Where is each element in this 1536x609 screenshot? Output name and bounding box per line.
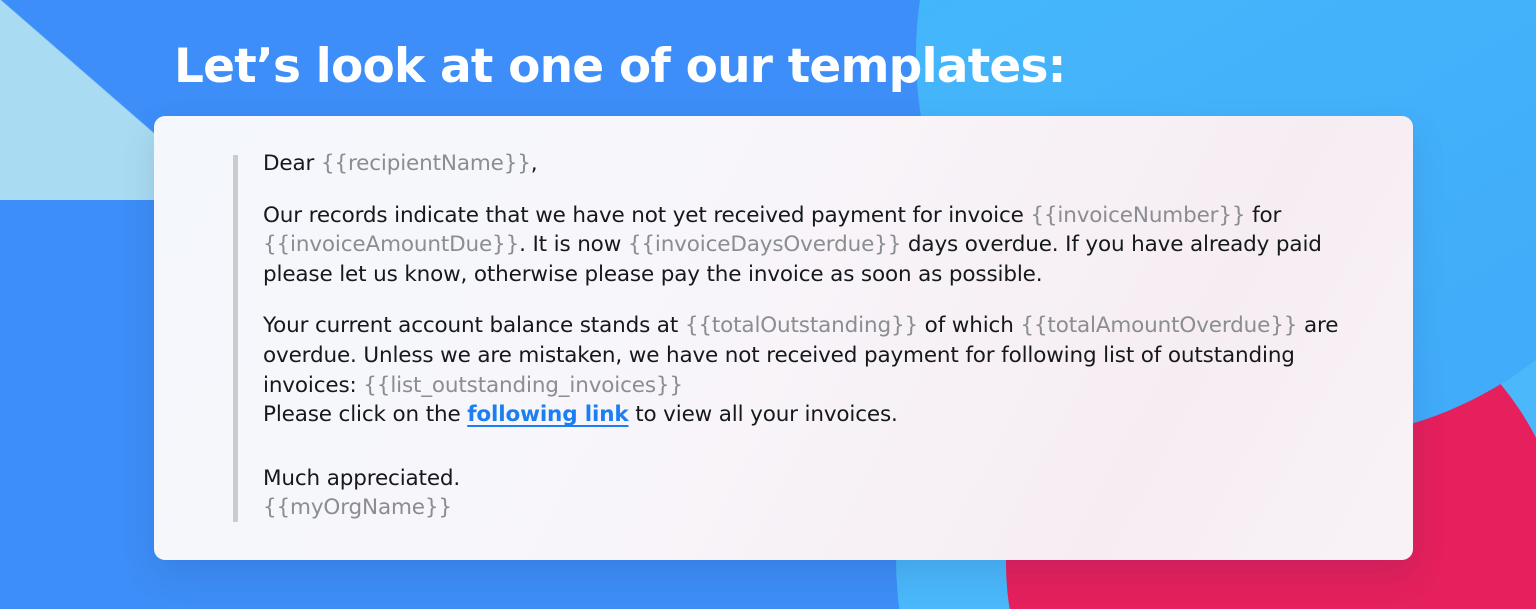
email-template-card: Dear {{recipientName}}, Our records indi… bbox=[154, 116, 1413, 560]
salutation-text: Dear bbox=[263, 151, 321, 176]
page-title: Let’s look at one of our templates: bbox=[174, 36, 1066, 98]
p2-part-1: Your current account balance stands at bbox=[263, 313, 685, 338]
placeholder-invoice-amount-due: {{invoiceAmountDue}} bbox=[263, 232, 519, 257]
p2-part-2: of which bbox=[918, 313, 1020, 338]
p1-part-2: for bbox=[1245, 203, 1281, 228]
closing-block: Much appreciated.{{myOrgName}} bbox=[263, 464, 1341, 523]
paragraph-overdue-notice: Our records indicate that we have not ye… bbox=[263, 201, 1341, 290]
paragraph-link-line: Please click on the following link to vi… bbox=[263, 400, 1341, 430]
p1-part-3: . It is now bbox=[519, 232, 628, 257]
slide-canvas: Let’s look at one of our templates: Dear… bbox=[0, 0, 1536, 609]
placeholder-total-amount-overdue: {{totalAmountOverdue}} bbox=[1020, 313, 1297, 338]
placeholder-invoice-number: {{invoiceNumber}} bbox=[1030, 203, 1245, 228]
link-line-suffix: to view all your invoices. bbox=[629, 402, 898, 427]
placeholder-total-outstanding: {{totalOutstanding}} bbox=[685, 313, 918, 338]
closing-line: Much appreciated. bbox=[263, 464, 1341, 494]
salutation-comma: , bbox=[531, 151, 538, 176]
placeholder-my-org-name: {{myOrgName}} bbox=[263, 493, 1341, 523]
link-line-prefix: Please click on the bbox=[263, 402, 467, 427]
p1-part-1: Our records indicate that we have not ye… bbox=[263, 203, 1030, 228]
placeholder-recipient-name: {{recipientName}} bbox=[321, 151, 531, 176]
paragraph-account-balance: Your current account balance stands at {… bbox=[263, 311, 1341, 400]
quote-bar bbox=[233, 155, 238, 522]
placeholder-invoice-days-overdue: {{invoiceDaysOverdue}} bbox=[628, 232, 901, 257]
email-body: Dear {{recipientName}}, Our records indi… bbox=[263, 149, 1341, 523]
following-link[interactable]: following link bbox=[467, 402, 628, 427]
salutation-line: Dear {{recipientName}}, bbox=[263, 149, 1341, 179]
placeholder-list-outstanding-invoices: {{list_outstanding_invoices}} bbox=[363, 373, 683, 398]
